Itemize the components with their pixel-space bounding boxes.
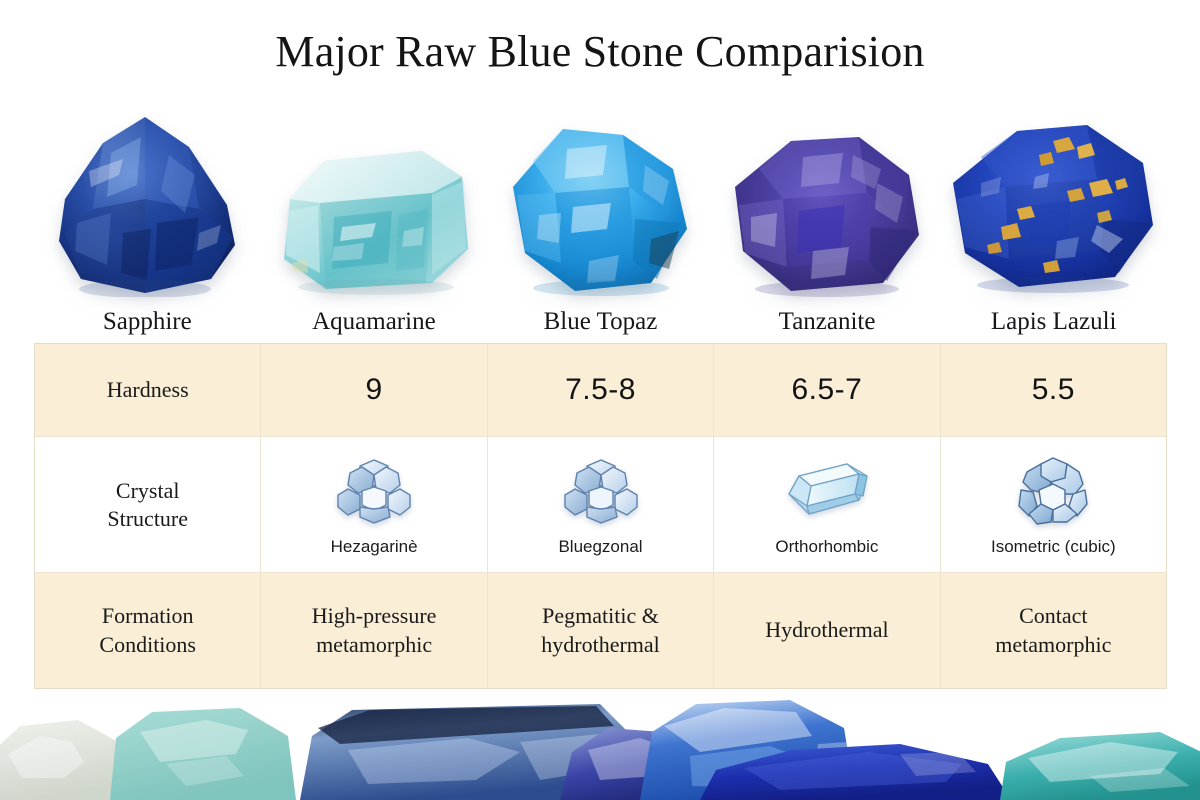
crystal-cell-3: Orthorhombic — [714, 437, 940, 572]
crystal-name-1: Hezagarinè — [331, 537, 418, 557]
bottom-stone-band — [0, 692, 1200, 800]
crystal-cell-1: Hezagarinè — [261, 437, 487, 572]
specimen-art-sapphire — [34, 97, 261, 297]
hardness-cell-3: 6.5-7 — [714, 344, 940, 436]
table-row-crystal-structure: Crystal Structure — [35, 436, 1166, 572]
specimen-label-lapis-lazuli: Lapis Lazuli — [991, 309, 1117, 334]
row-label-crystal-line2: Structure — [107, 505, 188, 533]
specimen-row: Sapphire — [34, 84, 1167, 334]
table-row-hardness: Hardness 9 7.5-8 6.5-7 5.5 — [35, 344, 1166, 436]
row-label-formation-line2: Conditions — [99, 631, 196, 659]
formation-value-4-line2: metamorphic — [995, 631, 1111, 659]
rough-sapphire-image — [49, 113, 245, 297]
row-label-crystal-line1: Crystal — [116, 477, 180, 505]
crystal-cell-4: Isometric (cubic) — [941, 437, 1166, 572]
specimen-cell-sapphire: Sapphire — [34, 84, 261, 334]
crystal-name-3: Orthorhombic — [775, 537, 878, 557]
crystal-name-2: Bluegzonal — [558, 537, 642, 557]
comparison-table: Hardness 9 7.5-8 6.5-7 5.5 Crystal Struc… — [34, 343, 1167, 689]
row-label-formation-line1: Formation — [102, 602, 194, 630]
specimen-cell-aquamarine: Aquamarine — [261, 84, 488, 334]
rough-aquamarine-image — [272, 141, 476, 297]
hexagonal-cluster-icon — [563, 453, 639, 529]
row-label-formation-conditions: Formation Conditions — [35, 573, 261, 688]
row-label-crystal-structure: Crystal Structure — [35, 437, 261, 572]
specimen-cell-blue-topaz: Blue Topaz — [487, 84, 714, 334]
page-title: Major Raw Blue Stone Comparision — [0, 26, 1200, 77]
formation-value-4-line1: Contact — [1019, 602, 1087, 630]
hexagonal-cluster-icon — [336, 453, 412, 529]
formation-value-1-line1: High-pressure — [312, 602, 437, 630]
formation-cell-3: Hydrothermal — [714, 573, 940, 688]
formation-value-1-line2: metamorphic — [316, 631, 432, 659]
formation-cell-2: Pegmatitic & hydrothermal — [488, 573, 714, 688]
crystal-name-4: Isometric (cubic) — [991, 537, 1116, 557]
rough-tanzanite-image — [727, 131, 927, 297]
hardness-value-2: 7.5-8 — [565, 373, 636, 407]
crystal-cell-2: Bluegzonal — [488, 437, 714, 572]
hardness-cell-1: 9 — [261, 344, 487, 436]
prismatic-crystal-icon — [779, 453, 875, 529]
specimen-art-aquamarine — [261, 97, 488, 297]
formation-value-2-line1: Pegmatitic & — [542, 602, 659, 630]
rough-blue-topaz-image — [503, 121, 697, 297]
specimen-label-tanzanite: Tanzanite — [779, 309, 876, 334]
hardness-value-1: 9 — [366, 373, 383, 407]
formation-value-2-line2: hydrothermal — [541, 631, 660, 659]
hardness-cell-4: 5.5 — [941, 344, 1166, 436]
specimen-art-blue-topaz — [487, 97, 714, 297]
formation-value-3-line1: Hydrothermal — [765, 616, 888, 644]
specimen-label-aquamarine: Aquamarine — [312, 309, 436, 334]
specimen-cell-lapis-lazuli: Lapis Lazuli — [940, 84, 1167, 334]
specimen-art-lapis-lazuli — [940, 97, 1167, 297]
hardness-cell-2: 7.5-8 — [488, 344, 714, 436]
rough-lapis-lazuli-image — [947, 121, 1161, 297]
infographic-canvas: Major Raw Blue Stone Comparision — [0, 0, 1200, 800]
table-row-formation-conditions: Formation Conditions High-pressure metam… — [35, 572, 1166, 688]
specimen-cell-tanzanite: Tanzanite — [714, 84, 941, 334]
specimen-art-tanzanite — [714, 97, 941, 297]
row-label-hardness: Hardness — [35, 344, 261, 436]
formation-cell-4: Contact metamorphic — [941, 573, 1166, 688]
specimen-label-sapphire: Sapphire — [103, 309, 192, 334]
specimen-label-blue-topaz: Blue Topaz — [544, 309, 658, 334]
formation-cell-1: High-pressure metamorphic — [261, 573, 487, 688]
isometric-cluster-icon — [1017, 453, 1089, 529]
hardness-value-3: 6.5-7 — [791, 373, 862, 407]
hardness-value-4: 5.5 — [1032, 373, 1075, 407]
row-label-hardness-text: Hardness — [107, 376, 189, 404]
